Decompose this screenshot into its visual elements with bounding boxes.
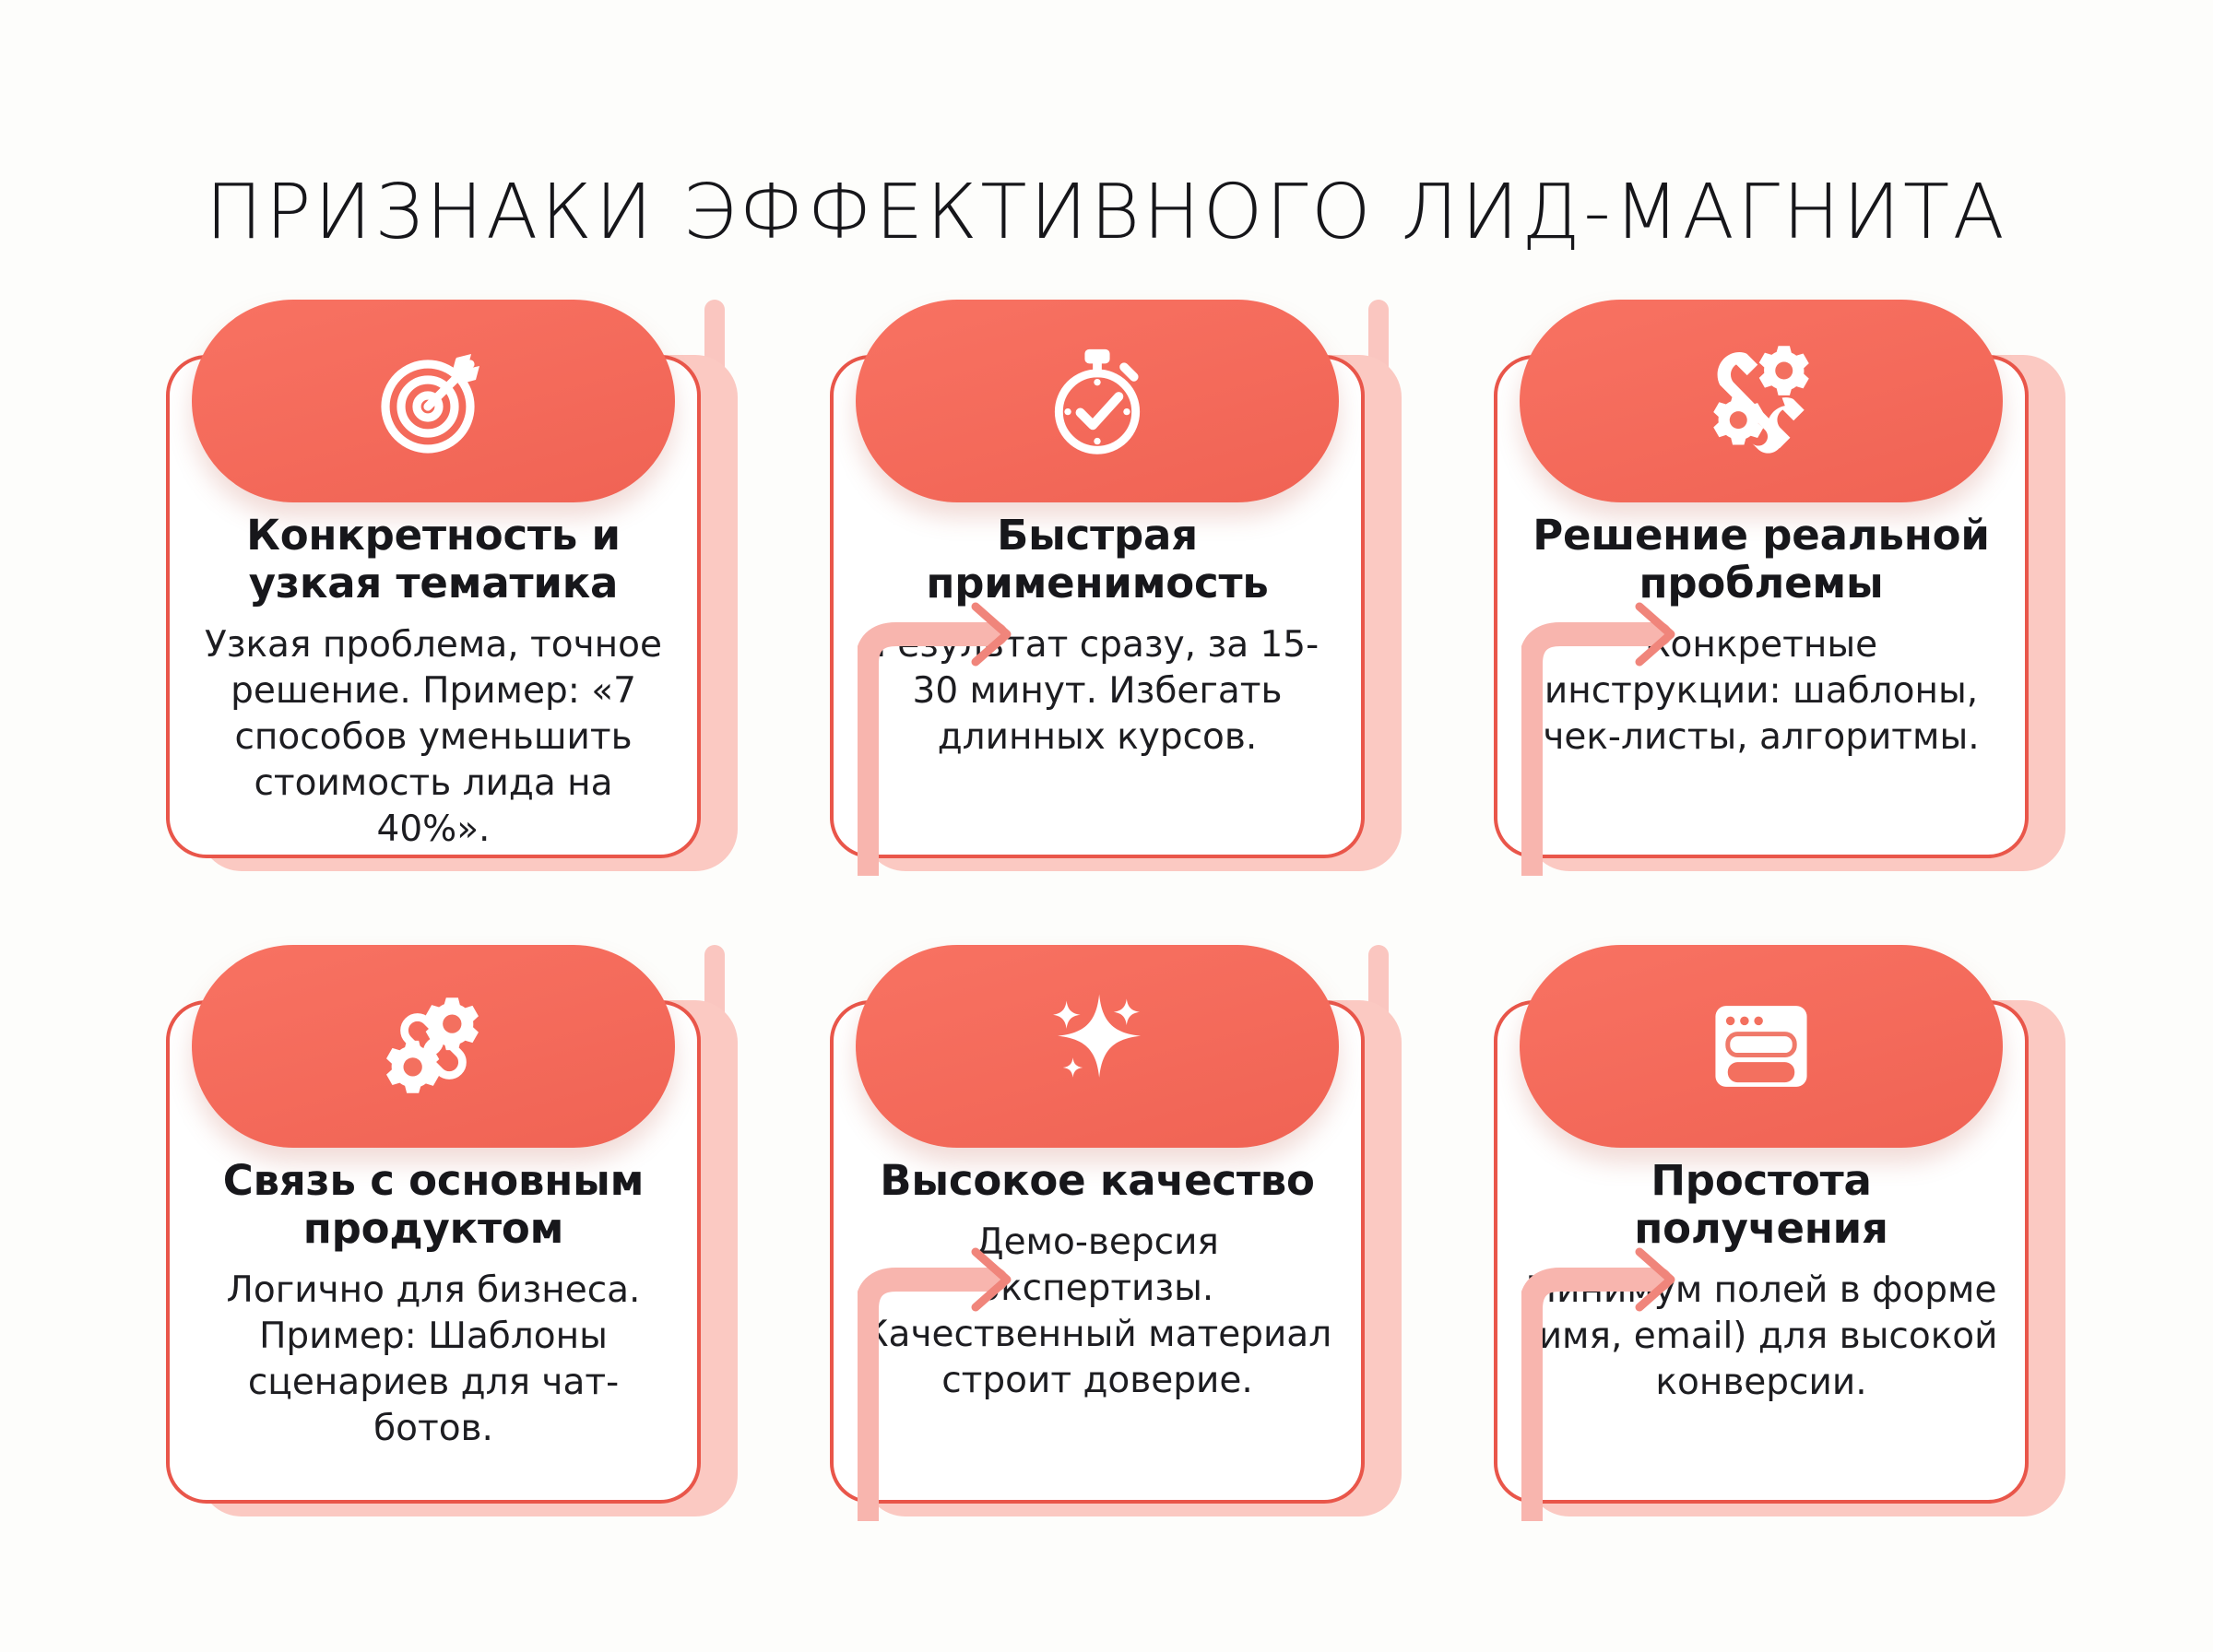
- card-icon-pill: [1520, 300, 2003, 502]
- sparkles-icon: [1035, 985, 1159, 1108]
- card-heading: Высокое качество: [859, 1157, 1335, 1205]
- feature-card-1[interactable]: Конкретность и узкая тематика Узкая проб…: [166, 300, 738, 871]
- card-description: Демо-версия экспертизы. Качественный мат…: [859, 1220, 1335, 1404]
- card-icon-pill: [856, 300, 1339, 502]
- card-text: Конкретность и узкая тематика Узкая проб…: [183, 512, 684, 853]
- feature-card-2[interactable]: Быстрая применимость Результат сразу, за…: [830, 300, 1402, 871]
- card-icon-pill: [856, 945, 1339, 1148]
- cards-grid: Конкретность и узкая тематика Узкая проб…: [166, 300, 2065, 1609]
- card-heading: Связь с основным продуктом: [195, 1157, 671, 1253]
- wrench-gears-icon: [1700, 340, 1822, 462]
- card-icon-pill: [1520, 945, 2003, 1148]
- card-text: Быстрая применимость Результат сразу, за…: [846, 512, 1348, 761]
- card-text: Высокое качество Демо-версия экспертизы.…: [846, 1157, 1348, 1404]
- card-heading: Конкретность и узкая тематика: [195, 512, 671, 608]
- feature-card-6[interactable]: Простота получения Минимум полей в форме…: [1494, 945, 2065, 1516]
- card-heading: Решение реальной проблемы: [1523, 512, 1999, 608]
- card-icon-pill: [192, 945, 675, 1148]
- page-title: ПРИЗНАКИ ЭФФЕКТИВНОГО ЛИД-МАГНИТА: [0, 169, 2213, 256]
- card-description: Логично для бизнеса. Пример: Шаблоны сце…: [195, 1268, 671, 1452]
- card-heading: Быстрая применимость: [859, 512, 1335, 608]
- card-heading: Простота получения: [1523, 1157, 1999, 1253]
- card-description: Узкая проблема, точное решение. Пример: …: [195, 622, 671, 853]
- feature-card-4[interactable]: Связь с основным продуктом Логично для б…: [166, 945, 738, 1516]
- card-text: Связь с основным продуктом Логично для б…: [183, 1157, 684, 1452]
- feature-card-3[interactable]: Решение реальной проблемы Конкретные инс…: [1494, 300, 2065, 871]
- card-description: Конкретные инструкции: шаблоны, чек-лист…: [1523, 622, 1999, 761]
- form-window-icon: [1705, 990, 1817, 1103]
- gears-chain-link-icon: [373, 986, 493, 1106]
- card-description: Минимум полей в форме (имя, email) для в…: [1523, 1268, 1999, 1406]
- target-arrow-icon: [374, 342, 492, 460]
- card-text: Простота получения Минимум полей в форме…: [1510, 1157, 2012, 1406]
- card-description: Результат сразу, за 15-30 минут. Избегат…: [859, 622, 1335, 761]
- feature-card-5[interactable]: Высокое качество Демо-версия экспертизы.…: [830, 945, 1402, 1516]
- stopwatch-check-icon: [1040, 344, 1154, 458]
- card-text: Решение реальной проблемы Конкретные инс…: [1510, 512, 2012, 761]
- card-icon-pill: [192, 300, 675, 502]
